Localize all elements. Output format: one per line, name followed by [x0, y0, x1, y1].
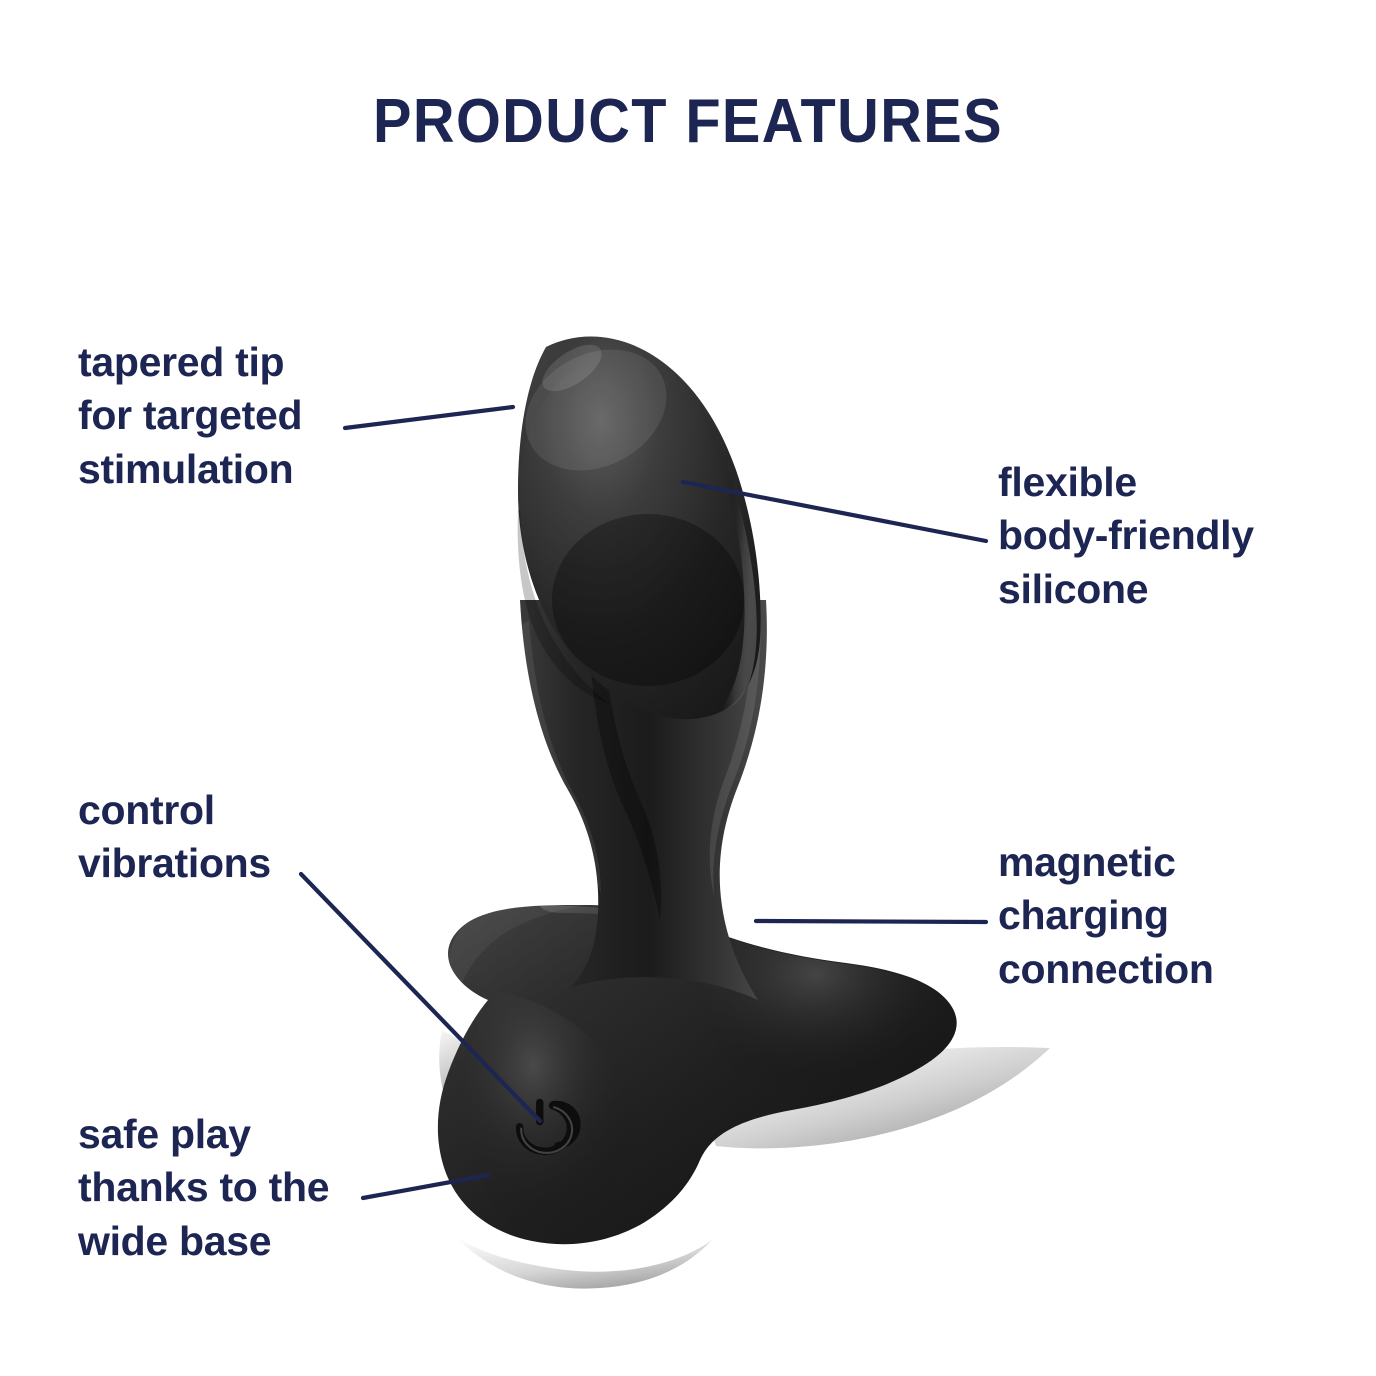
base-rim-front [455, 1236, 712, 1289]
leader-line-tapered-tip [345, 407, 513, 428]
callout-flexible-silicone: flexible body-friendly silicone [998, 456, 1254, 616]
callout-control-vibrations: control vibrations [78, 784, 271, 891]
product-base [438, 905, 1050, 1289]
product-features-infographic: PRODUCT FEATURES [0, 0, 1376, 1376]
leader-line-magnetic-charging [756, 921, 986, 922]
callout-tapered-tip: tapered tip for targeted stimulation [78, 336, 302, 496]
callout-safe-play-wide-base: safe play thanks to the wide base [78, 1108, 329, 1268]
callout-magnetic-charging: magnetic charging connection [998, 836, 1214, 996]
bulb-core-shadow [552, 514, 744, 686]
